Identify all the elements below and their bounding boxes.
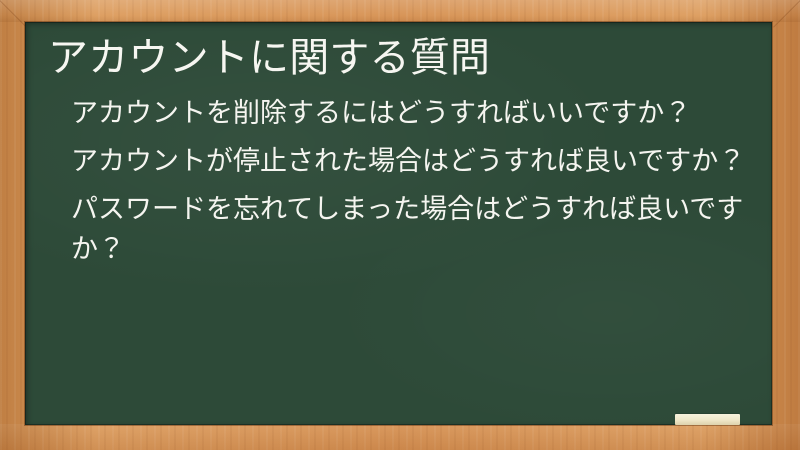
chalkboard-surface: アカウントに関する質問 アカウントを削除するにはどうすればいいですか？ アカウン… [25, 22, 772, 425]
page-title: アカウントに関する質問 [38, 33, 750, 83]
question-list: アカウントを削除するにはどうすればいいですか？ アカウントが停止された場合はどう… [38, 93, 750, 277]
list-item: パスワードを忘れてしまった場合はどうすれば良いですか？ [71, 189, 747, 269]
chalkboard-slide: アカウントに関する質問 アカウントを削除するにはどうすればいいですか？ アカウン… [0, 0, 800, 450]
list-item: アカウントが停止された場合はどうすれば良いですか？ [71, 141, 747, 181]
chalkboard-content: アカウントに関する質問 アカウントを削除するにはどうすればいいですか？ アカウン… [25, 22, 772, 425]
list-item: アカウントを削除するにはどうすればいいですか？ [71, 93, 747, 133]
